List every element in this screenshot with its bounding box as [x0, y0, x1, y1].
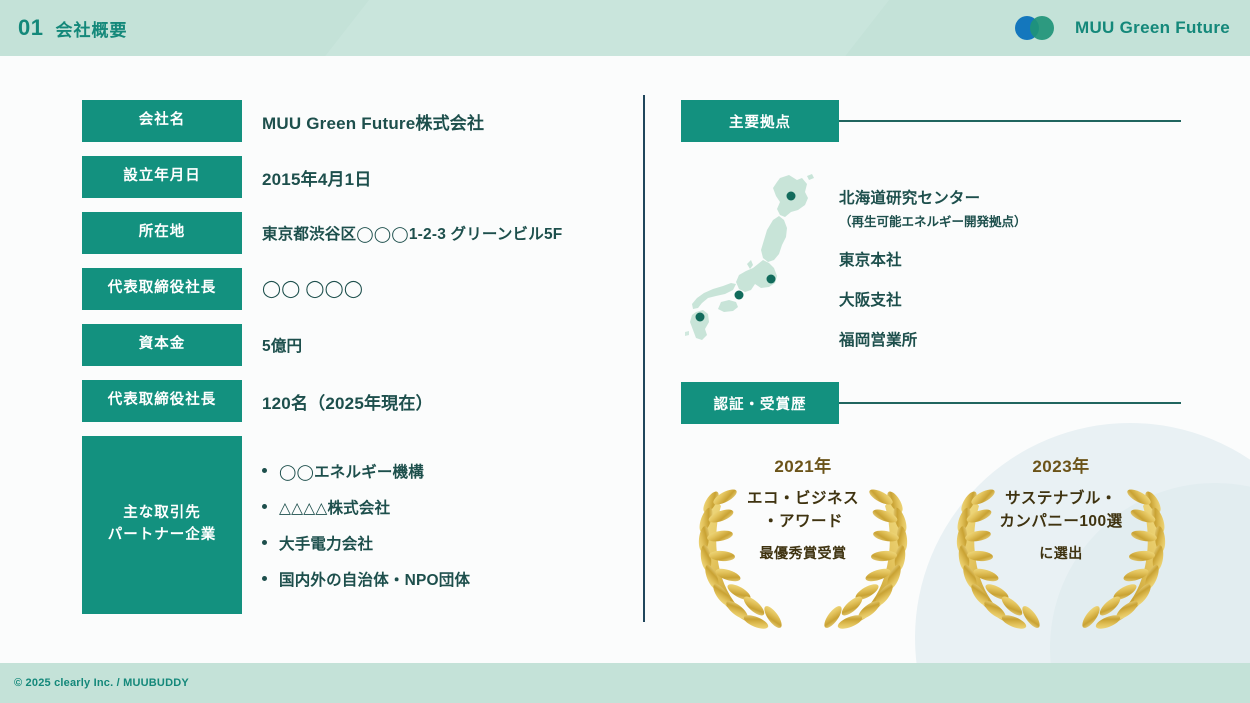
section-rule	[839, 120, 1181, 121]
page-title: 会社概要	[55, 16, 127, 41]
map-dot-osaka	[735, 291, 744, 300]
award-card: 2021年 エコ・ビジネス ・アワード 最優秀賞受賞	[681, 440, 925, 640]
award-year: 2021年	[774, 452, 831, 477]
table-row: 資本金 5億円	[82, 324, 622, 366]
table-row-partners: 主な取引先 パートナー企業 ◯◯エネルギー機構 △△△△株式会社 大手電力会社 …	[82, 436, 622, 614]
table-row: 会社名 MUU Green Future株式会社	[82, 100, 622, 142]
award-text: 2021年 エコ・ビジネス ・アワード 最優秀賞受賞	[681, 440, 925, 640]
japan-map-icon	[681, 172, 821, 342]
award-title-line2: カンパニー100選	[999, 513, 1122, 530]
award-note: に選出	[1039, 543, 1083, 563]
map-dot-tokyo	[767, 275, 776, 284]
row-label: 設立年月日	[82, 156, 242, 198]
row-value: 東京都渋谷区◯◯◯1-2-3 グリーンビル5F	[242, 212, 622, 254]
award-title-line2: ・アワード	[763, 513, 843, 530]
section-rule	[839, 402, 1181, 403]
row-label: 代表取締役社長	[82, 268, 242, 310]
section-title-locations: 主要拠点	[681, 100, 839, 142]
locations-section-header: 主要拠点	[681, 100, 1181, 142]
location-list: 北海道研究センター （再生可能エネルギー開発拠点） 東京本社 大阪支社 福岡営業…	[839, 172, 1027, 350]
row-label: 主な取引先 パートナー企業	[82, 436, 242, 614]
slide-footer: © 2025 clearly Inc. / MUUBUDDY	[0, 663, 1250, 703]
list-item: △△△△株式会社	[262, 496, 470, 518]
awards-section-header: 認証・受賞歴	[681, 382, 1181, 424]
location-name: 北海道研究センター	[839, 190, 980, 207]
row-value: ◯◯エネルギー機構 △△△△株式会社 大手電力会社 国内外の自治体・NPO団体	[242, 436, 622, 614]
section-number: 01	[18, 15, 43, 41]
list-item: 北海道研究センター （再生可能エネルギー開発拠点）	[839, 186, 1027, 230]
locations-body: 北海道研究センター （再生可能エネルギー開発拠点） 東京本社 大阪支社 福岡営業…	[681, 172, 1181, 350]
copyright-text: © 2025 clearly Inc. / MUUBUDDY	[14, 677, 189, 689]
list-item: 東京本社	[839, 248, 1027, 270]
slide-header: 01 会社概要 MUU Green Future	[0, 0, 1250, 56]
row-label: 資本金	[82, 324, 242, 366]
table-row: 所在地 東京都渋谷区◯◯◯1-2-3 グリーンビル5F	[82, 212, 622, 254]
award-year: 2023年	[1032, 452, 1089, 477]
row-label: 会社名	[82, 100, 242, 142]
row-value: MUU Green Future株式会社	[242, 100, 622, 142]
award-title-line1: サステナブル・	[1005, 490, 1117, 507]
table-row: 設立年月日 2015年4月1日	[82, 156, 622, 198]
award-title-line1: エコ・ビジネス	[747, 490, 859, 507]
map-dot-fukuoka	[696, 313, 705, 322]
table-row: 代表取締役社長 ◯◯ ◯◯◯	[82, 268, 622, 310]
row-label: 所在地	[82, 212, 242, 254]
list-item: ◯◯エネルギー機構	[262, 460, 470, 482]
list-item: 大手電力会社	[262, 532, 470, 554]
partner-list: ◯◯エネルギー機構 △△△△株式会社 大手電力会社 国内外の自治体・NPO団体	[262, 460, 470, 590]
section-title-awards: 認証・受賞歴	[681, 382, 839, 424]
row-value: 2015年4月1日	[242, 156, 622, 198]
table-row: 代表取締役社長 120名（2025年現在）	[82, 380, 622, 422]
row-label-line1: 主な取引先	[123, 505, 201, 521]
award-title: エコ・ビジネス ・アワード	[747, 487, 859, 534]
award-note: 最優秀賞受賞	[760, 543, 847, 563]
list-item: 大阪支社	[839, 288, 1027, 310]
logo-mark	[1015, 16, 1065, 40]
list-item: 国内外の自治体・NPO団体	[262, 568, 470, 590]
awards-list: 2021年 エコ・ビジネス ・アワード 最優秀賞受賞	[681, 440, 1181, 640]
right-column: 主要拠点	[681, 100, 1181, 640]
row-label: 代表取締役社長	[82, 380, 242, 422]
award-title: サステナブル・ カンパニー100選	[999, 487, 1122, 534]
company-info-table: 会社名 MUU Green Future株式会社 設立年月日 2015年4月1日…	[82, 100, 622, 614]
list-item: 福岡営業所	[839, 328, 1027, 350]
location-sub: （再生可能エネルギー開発拠点）	[839, 211, 1027, 230]
award-text: 2023年 サステナブル・ カンパニー100選 に選出	[939, 440, 1183, 640]
row-value: ◯◯ ◯◯◯	[242, 268, 622, 310]
award-card: 2023年 サステナブル・ カンパニー100選 に選出	[939, 440, 1183, 640]
brand-logo: MUU Green Future	[1015, 0, 1230, 56]
column-divider	[643, 95, 645, 622]
row-label-line2: パートナー企業	[108, 527, 217, 543]
slide-root: 01 会社概要 MUU Green Future 会社名 MUU Green F…	[0, 0, 1250, 703]
brand-name: MUU Green Future	[1075, 18, 1230, 38]
row-value: 5億円	[242, 324, 622, 366]
map-dot-hokkaido	[787, 192, 796, 201]
circle-green-icon	[1030, 16, 1054, 40]
row-value: 120名（2025年現在）	[242, 380, 622, 422]
